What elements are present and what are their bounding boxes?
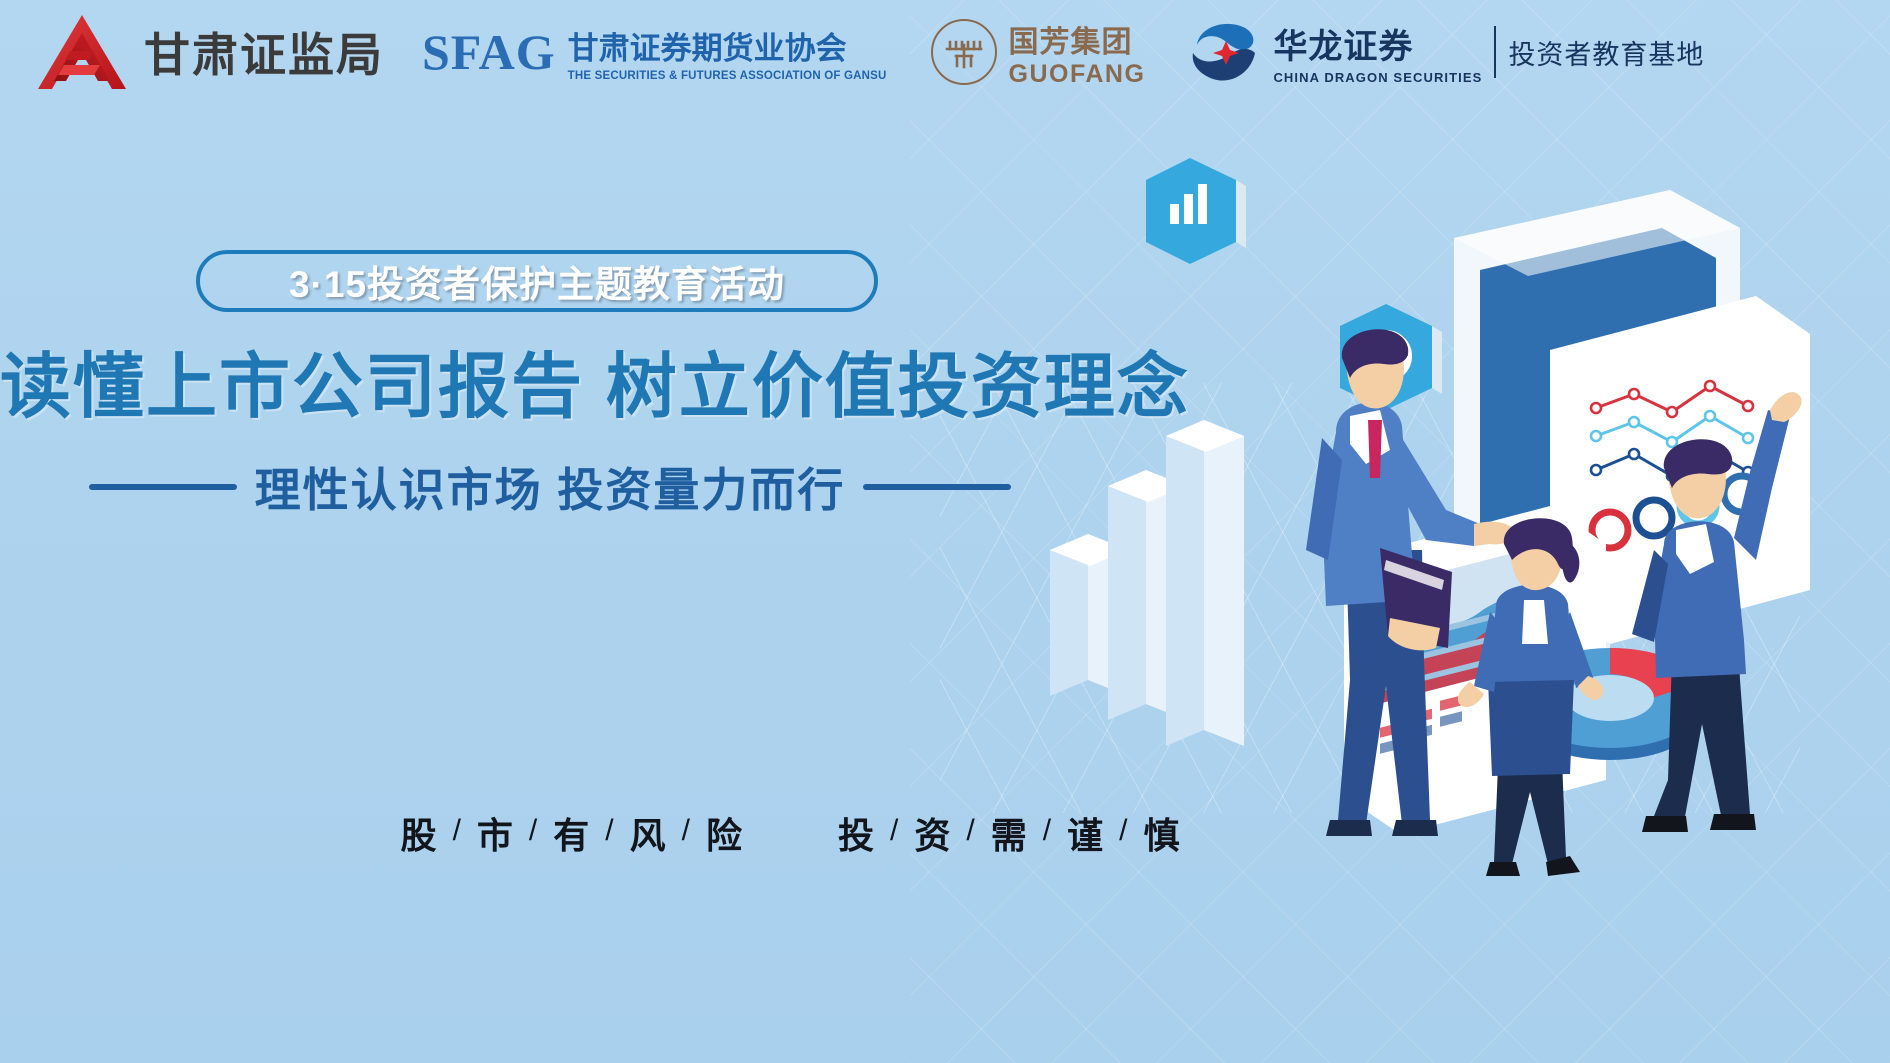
slogan-separator: / xyxy=(453,814,461,848)
logo-sfag: SFAG 甘肃证券期货业协会 THE SECURITIES & FUTURES … xyxy=(422,23,887,82)
guofang-circle-mark-icon xyxy=(931,19,997,85)
sponsor-logo-bar: 甘肃证监局 SFAG 甘肃证券期货业协会 THE SECURITIES & FU… xyxy=(0,0,1890,104)
hero-rule-right xyxy=(863,484,1011,490)
logo-guofang-label-en: GUOFANG xyxy=(1009,62,1146,87)
bar-chart-blocks xyxy=(1050,420,1244,746)
slogan-char: 股 xyxy=(401,807,437,859)
logo-china-dragon-sublabel: 投资者教育基地 xyxy=(1508,33,1704,72)
guofang-glyph-icon xyxy=(943,31,985,73)
dragon-wave-mark-icon xyxy=(1187,19,1261,85)
logo-guofang: 国芳集团 GUOFANG xyxy=(931,17,1146,87)
logo-china-dragon-label-cn: 华龙证券 xyxy=(1273,19,1482,68)
analytics-illustration xyxy=(1050,120,1890,910)
slogan-char: 市 xyxy=(477,807,513,859)
logo-sfag-label-en: THE SECURITIES & FUTURES ASSOCIATION OF … xyxy=(568,70,887,82)
slogan-char: 资 xyxy=(914,807,950,859)
hero-subtitle-row: 理性认识市场 投资量力而行 xyxy=(0,454,1100,520)
logo-gansu-csrc: 甘肃证监局 xyxy=(34,11,384,93)
logo-china-dragon: 华龙证券 CHINA DRAGON SECURITIES 投资者教育基地 xyxy=(1187,19,1704,85)
logo-sfag-abbr: SFAG xyxy=(422,23,556,81)
slogan-group-1: 股 / 市 / 有 / 风 / 险 xyxy=(401,807,742,859)
poster-root: 甘肃证监局 SFAG 甘肃证券期货业协会 THE SECURITIES & FU… xyxy=(0,0,1890,1063)
slogan-char: 需 xyxy=(991,807,1027,859)
hero-title: 读懂上市公司报告 树立价值投资理念 xyxy=(0,330,1100,432)
slogan-char: 险 xyxy=(706,807,742,859)
logo-sfag-label-cn: 甘肃证券期货业协会 xyxy=(568,23,887,68)
logo-china-dragon-label-en: CHINA DRAGON SECURITIES xyxy=(1273,70,1482,85)
logo-gansu-csrc-label: 甘肃证监局 xyxy=(144,19,384,85)
hero-badge: 3·15投资者保护主题教育活动 xyxy=(196,250,878,312)
logo-divider xyxy=(1494,26,1496,78)
csrc-triangle-mark-icon xyxy=(34,11,130,93)
slogan-separator: / xyxy=(605,814,613,848)
bar-chart-card-icon xyxy=(1146,158,1246,264)
logo-guofang-label-cn: 国芳集团 xyxy=(1009,17,1146,61)
slogan-char: 风 xyxy=(630,807,666,859)
slogan-char: 投 xyxy=(838,807,874,859)
slogan-separator: / xyxy=(890,814,898,848)
slogan-separator: / xyxy=(966,814,974,848)
hero-block: 3·15投资者保护主题教育活动 读懂上市公司报告 树立价值投资理念 理性认识市场… xyxy=(0,250,1100,520)
slogan-separator: / xyxy=(682,814,690,848)
illustration-svg xyxy=(1050,120,1890,910)
hero-badge-label: 3·15投资者保护主题教育活动 xyxy=(289,254,785,308)
slogan-separator: / xyxy=(529,814,537,848)
hero-rule-left xyxy=(89,484,237,490)
hero-subtitle: 理性认识市场 投资量力而行 xyxy=(255,454,846,520)
slogan-char: 有 xyxy=(553,807,589,859)
